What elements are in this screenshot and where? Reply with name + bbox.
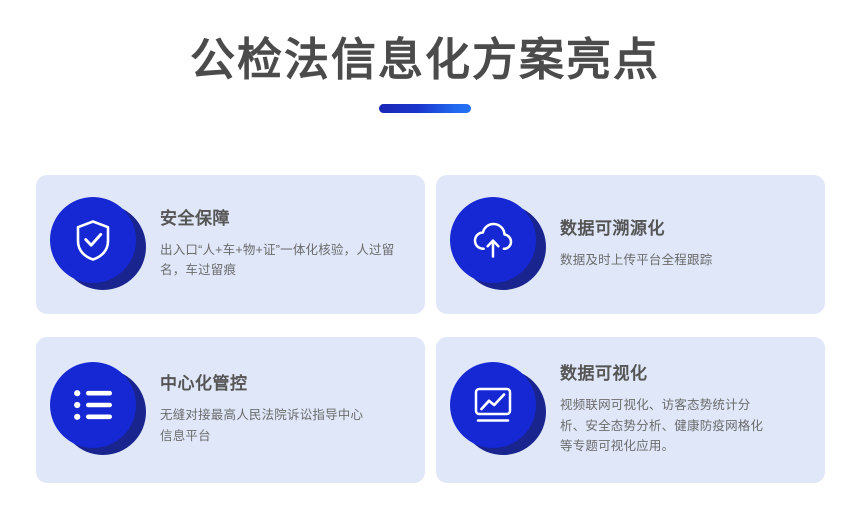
card-heading: 数据可视化 [560, 364, 807, 384]
card-heading: 安全保障 [160, 209, 407, 229]
card-heading: 数据可溯源化 [560, 219, 807, 239]
card-description: 无缝对接最高人民法院诉讼指导中心信息平台 [160, 405, 375, 446]
feature-cards-grid: 安全保障 出入口“人+车+物+证”一体化核验，人过留名，车过留痕 数据可溯源化 … [36, 175, 814, 483]
chart-monitor-icon [450, 362, 536, 448]
title-underline-bar [379, 104, 471, 113]
card-text: 中心化管控 无缝对接最高人民法院诉讼指导中心信息平台 [160, 374, 407, 446]
page-root: 公检法信息化方案亮点 安全保障 出入口“人+车+物+证”一体化核验，人过留名，车… [0, 0, 850, 516]
list-bullets-icon [50, 362, 136, 448]
header: 公检法信息化方案亮点 [0, 0, 850, 113]
icon-medallion [450, 362, 546, 458]
feature-card-security[interactable]: 安全保障 出入口“人+车+物+证”一体化核验，人过留名，车过留痕 [36, 175, 425, 314]
card-description: 数据及时上传平台全程跟踪 [560, 250, 807, 270]
feature-card-data-traceability[interactable]: 数据可溯源化 数据及时上传平台全程跟踪 [436, 175, 825, 314]
feature-card-centralized-control[interactable]: 中心化管控 无缝对接最高人民法院诉讼指导中心信息平台 [36, 337, 425, 483]
icon-medallion [50, 362, 146, 458]
card-description: 视频联网可视化、访客态势统计分析、安全态势分析、健康防疫网格化等专题可视化应用。 [560, 395, 775, 456]
page-title: 公检法信息化方案亮点 [0, 34, 850, 86]
card-heading: 中心化管控 [160, 374, 407, 394]
card-description: 出入口“人+车+物+证”一体化核验，人过留名，车过留痕 [160, 240, 407, 281]
shield-check-icon [50, 197, 136, 283]
card-text: 数据可视化 视频联网可视化、访客态势统计分析、安全态势分析、健康防疫网格化等专题… [560, 364, 807, 456]
icon-medallion [50, 197, 146, 293]
cloud-upload-icon [450, 197, 536, 283]
feature-card-data-visualization[interactable]: 数据可视化 视频联网可视化、访客态势统计分析、安全态势分析、健康防疫网格化等专题… [436, 337, 825, 483]
card-text: 数据可溯源化 数据及时上传平台全程跟踪 [560, 219, 807, 271]
icon-medallion [450, 197, 546, 293]
card-text: 安全保障 出入口“人+车+物+证”一体化核验，人过留名，车过留痕 [160, 209, 407, 281]
